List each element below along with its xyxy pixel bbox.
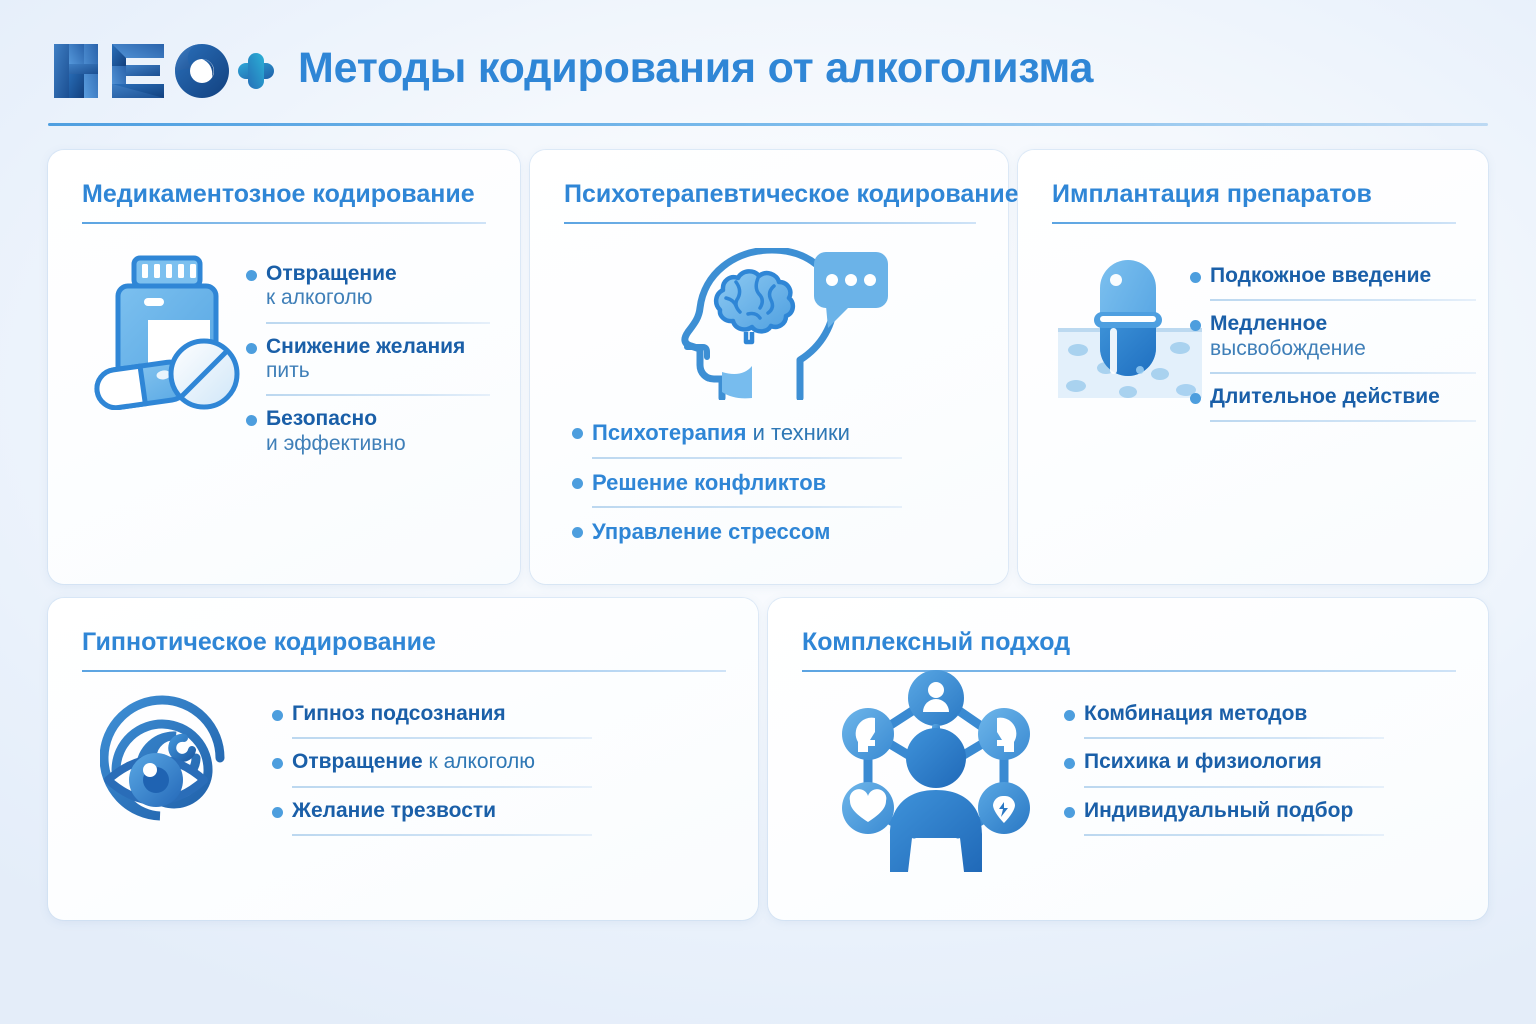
list-separator — [1210, 299, 1476, 301]
bullet-list-complex: Комбинация методов Психика и физиология … — [1064, 702, 1384, 847]
list-separator — [592, 506, 902, 508]
list-item[interactable]: Отвращение к алкоголю — [272, 750, 592, 774]
bullet-primary: Снижение желания — [266, 335, 465, 358]
bullet-dot-icon — [272, 758, 283, 769]
bullet-secondary: и эффективно — [266, 432, 406, 456]
list-item[interactable]: Психика и физиология — [1064, 750, 1384, 774]
bullet-primary: Медленное — [1210, 312, 1327, 335]
bullet-list-hypnosis: Гипноз подсознания Отвращение к алкоголю… — [272, 702, 592, 847]
bullet-primary: Комбинация методов — [1084, 702, 1307, 725]
bullet-dot-icon — [1064, 807, 1075, 818]
card-title-complex: Комплексный подход — [802, 628, 1070, 657]
list-separator — [266, 322, 490, 324]
bullet-primary: Гипноз подсознания — [292, 702, 506, 725]
people-network-icon — [828, 666, 1044, 872]
pill-bottle-icon — [82, 250, 258, 410]
bullet-primary: Отвращение — [292, 750, 423, 773]
bullet-dot-icon — [246, 415, 257, 426]
list-item[interactable]: Психотерапия и техники — [572, 420, 902, 446]
bullet-dot-icon — [1064, 758, 1075, 769]
list-separator — [1084, 786, 1384, 788]
card-divider — [1052, 222, 1456, 224]
list-item[interactable]: Индивидуальный подбор — [1064, 799, 1384, 823]
bullet-secondary: пить — [266, 359, 465, 383]
bullet-dot-icon — [572, 527, 583, 538]
list-separator — [292, 737, 592, 739]
bullet-dot-icon — [1190, 320, 1201, 331]
bullet-dot-icon — [1190, 393, 1201, 404]
card-title-implantation: Имплантация препаратов — [1052, 180, 1372, 209]
page-header: Методы кодирования от алкоголизма — [0, 0, 1536, 132]
bullet-secondary: к алкоголю — [423, 750, 535, 773]
list-item[interactable]: Решение конфликтов — [572, 470, 902, 496]
bullet-dot-icon — [1064, 710, 1075, 721]
bullet-primary: Длительное действие — [1210, 385, 1440, 408]
bullet-dot-icon — [272, 710, 283, 721]
list-item[interactable]: Безопасно и эффективно — [246, 407, 490, 456]
bullet-primary: Индивидуальный подбор — [1084, 799, 1353, 822]
card-divider — [564, 222, 976, 224]
bullet-primary: Отвращение — [266, 262, 397, 285]
card-title-medication: Медикаментозное кодирование — [82, 180, 475, 209]
capsule-implant-icon — [1054, 250, 1206, 400]
list-separator — [292, 786, 592, 788]
card-title-hypnosis: Гипнотическое кодирование — [82, 628, 436, 657]
card-title-psychotherapy: Психотерапевтическое кодирование — [564, 180, 1019, 209]
list-separator — [266, 394, 490, 396]
list-item[interactable]: Отвращение к алкоголю — [246, 262, 490, 311]
bullet-primary: Подкожное введение — [1210, 264, 1431, 287]
list-separator — [592, 457, 902, 459]
bullet-list-medication: Отвращение к алкоголю Снижение желания п… — [246, 262, 490, 456]
list-separator — [1210, 420, 1476, 422]
hypnosis-eye-icon — [100, 676, 272, 824]
list-item[interactable]: Комбинация методов — [1064, 702, 1384, 726]
head-brain-speech-icon — [660, 248, 892, 400]
bullet-primary: Безопасно — [266, 407, 377, 430]
list-item[interactable]: Подкожное введение — [1190, 264, 1476, 288]
bullet-primary: Желание трезвости — [292, 799, 496, 822]
bullet-secondary: высвобождение — [1210, 337, 1366, 361]
bullet-secondary: к алкоголю — [266, 286, 397, 310]
bullet-secondary: и техники — [746, 420, 849, 445]
list-item[interactable]: Медленное высвобождение — [1190, 312, 1476, 361]
bullet-dot-icon — [572, 428, 583, 439]
list-item[interactable]: Длительное действие — [1190, 385, 1476, 409]
bullet-dot-icon — [1190, 272, 1201, 283]
list-separator — [1084, 737, 1384, 739]
list-separator — [1084, 834, 1384, 836]
list-item[interactable]: Управление стрессом — [572, 519, 902, 545]
bullet-dot-icon — [272, 807, 283, 818]
list-item[interactable]: Снижение желания пить — [246, 335, 490, 384]
bullet-list-implantation: Подкожное введение Медленное высвобожден… — [1190, 264, 1476, 433]
bullet-primary: Решение конфликтов — [592, 470, 826, 495]
bullet-dot-icon — [572, 478, 583, 489]
list-item[interactable]: Желание трезвости — [272, 799, 592, 823]
card-divider — [82, 222, 486, 224]
bullet-primary: Управление стрессом — [592, 519, 830, 544]
neo-plus-logo — [52, 40, 274, 102]
bullet-dot-icon — [246, 343, 257, 354]
list-item[interactable]: Гипноз подсознания — [272, 702, 592, 726]
list-separator — [292, 834, 592, 836]
bullet-dot-icon — [246, 270, 257, 281]
card-divider — [82, 670, 726, 672]
bullet-primary: Психотерапия — [592, 420, 746, 445]
bullet-list-psychotherapy: Психотерапия и техники Решение конфликто… — [572, 420, 902, 545]
header-divider — [48, 123, 1488, 126]
list-separator — [1210, 372, 1476, 374]
page-title: Методы кодирования от алкоголизма — [298, 44, 1093, 93]
bullet-primary: Психика и физиология — [1084, 750, 1322, 773]
